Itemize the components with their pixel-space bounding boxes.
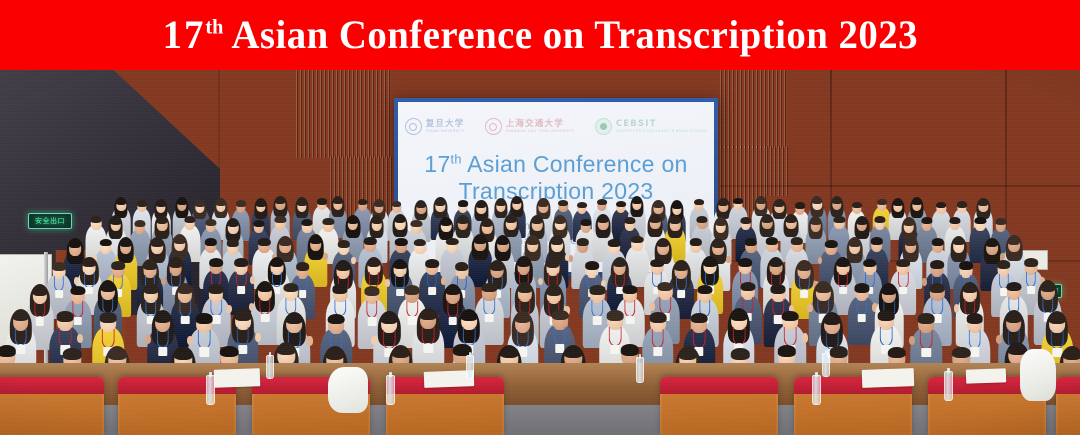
attendee-hair-top (1005, 312, 1022, 323)
slide-title-line1-rest: Asian Conference on (462, 151, 688, 177)
attendee-hair-top (532, 217, 543, 224)
attendee-hair-top (143, 285, 158, 295)
attendee-hair-top (689, 238, 701, 246)
attendee-hair-top (57, 311, 74, 322)
banner-title-rest: Asian Conference on Transcription 2023 (231, 12, 918, 57)
draped-cloth (1020, 349, 1056, 401)
attendee-hair-top (653, 202, 663, 208)
attendee-hair-top (270, 259, 284, 268)
attendee-hair-top (715, 219, 726, 226)
attendee-hair-top (364, 237, 376, 245)
attendee-hair-top (205, 219, 216, 226)
attendee-lanyard (259, 298, 270, 315)
attendee-name-badge (428, 287, 436, 295)
attendee-hair-top (69, 240, 81, 248)
attendee-hair-top (631, 236, 643, 244)
attendee-hair-top (679, 348, 697, 360)
attendee-name-badge (423, 344, 432, 353)
attendee-hair-top (476, 202, 486, 208)
attendee-hair-top (786, 216, 797, 223)
attendee-hair-top (277, 344, 295, 356)
water-bottle (944, 371, 953, 401)
attendee-hair-top (921, 217, 932, 224)
attendee-hair-top (275, 216, 286, 223)
wood-slat-panel (720, 70, 788, 148)
attendee-hair-top (597, 199, 607, 205)
attendee-hair-top (766, 237, 778, 245)
attendee-hair-top (546, 259, 560, 268)
attendee-hair-top (236, 200, 246, 206)
water-bottle (812, 375, 821, 405)
attendee-hair-top (607, 310, 624, 321)
attendee-hair-top (258, 238, 270, 246)
attendee-hair-top (576, 238, 588, 246)
attendee-hair-top (694, 199, 704, 205)
attendee-hair-top (52, 262, 66, 271)
attendee-hair-top (310, 236, 322, 244)
attendee-hair-top (420, 310, 437, 321)
attendee-hair-top (740, 282, 755, 292)
attendee-hair-top (650, 216, 661, 223)
attendee-name-badge (238, 286, 246, 294)
draped-cloth (328, 367, 368, 413)
attendee-hair-top (740, 217, 751, 224)
attendee-hand (323, 253, 328, 260)
attendee-hand (255, 333, 261, 342)
attendee-hair-top (358, 199, 368, 205)
cebsit-logo-cn: CEBSIT (616, 120, 707, 129)
attendee-hair-top (848, 239, 860, 247)
attendee-hair-top (414, 239, 426, 247)
attendee-hair-top (174, 348, 192, 360)
attendee-name-badge (801, 290, 809, 298)
attendee-name-badge (922, 348, 931, 357)
attendee-hair-top (997, 260, 1011, 269)
attendee-hair-top (877, 199, 887, 205)
attendee-hair-top (227, 239, 239, 247)
attendee-hair-top (930, 283, 945, 293)
attendee-hair-top (204, 238, 216, 246)
attendee-lanyard (237, 327, 250, 346)
attendee-hair-top (333, 284, 348, 294)
attendee-hair-top (256, 200, 266, 206)
attendee-hair-top (497, 237, 509, 245)
attendee-hair-top (100, 312, 117, 323)
attendee-hair-top (539, 200, 549, 206)
attendee-name-badge (839, 287, 847, 295)
attendee-hand (909, 336, 915, 345)
attendee-hair-top (816, 283, 831, 293)
attendee-hair-top (108, 348, 126, 360)
attendee-hair-top (517, 284, 532, 294)
attendee-lanyard (733, 327, 746, 346)
attendee-hair-top (832, 198, 842, 204)
attendee-hair-top (286, 314, 303, 325)
attendee-hair-top (253, 220, 264, 227)
attendee-hair-top (333, 198, 343, 204)
attendee-lanyard (59, 328, 72, 347)
attendee-hair-top (675, 262, 689, 271)
attendee-hair-top (834, 216, 845, 223)
attendee-hair-top (195, 201, 205, 207)
attendee-hair-top (381, 313, 398, 324)
attendee-hair-top (143, 261, 157, 270)
attendee-lanyard (484, 298, 495, 315)
attendee-hair-top (391, 347, 409, 359)
attendee-hair-top (234, 310, 251, 321)
attendee-hair-top (691, 313, 708, 324)
attendee-hair-top (893, 200, 903, 206)
attendee-hair-top (154, 312, 171, 323)
attendee-hair-top (371, 217, 382, 224)
auditorium-seat (660, 377, 778, 435)
attendee-hair-top (672, 202, 682, 208)
attendee-hair-top (657, 240, 669, 248)
attendee-hair-top (209, 258, 223, 267)
attendee-hair-top (169, 259, 183, 268)
attendee-lanyard (156, 329, 169, 348)
attendee-hair-top (878, 310, 895, 321)
water-bottle (266, 355, 274, 379)
attendee-hair-top (658, 282, 673, 292)
attendee-hair-top (897, 259, 911, 268)
attendee-hair-top (482, 283, 497, 293)
attendee-hair-top (856, 218, 867, 225)
attendee-hand (802, 333, 808, 342)
attendee-hand (371, 336, 377, 345)
attendee-hair-top (1008, 237, 1020, 245)
attendee-hair-top (863, 259, 877, 268)
attendee-hair-top (903, 219, 914, 226)
cebsit-logo-mark (595, 118, 612, 135)
banner-ordinal: 17 (162, 12, 205, 57)
attendee-hair-top (296, 262, 310, 271)
attendee-hair-top (854, 283, 869, 293)
attendee-hair-top (870, 237, 882, 245)
attendee-hair-top (367, 259, 381, 268)
attendee-hair-top (580, 219, 591, 226)
attendee-lanyard (198, 330, 211, 349)
attendee-hair-top (697, 216, 708, 223)
attendee-hair-top (936, 202, 946, 208)
title-banner: 17th Asian Conference on Transcription 2… (0, 0, 1080, 70)
attendee-hair-top (482, 220, 493, 227)
water-bottle (386, 375, 395, 405)
attendee-hair-top (739, 258, 753, 267)
attendee-lanyard (920, 330, 933, 349)
attendee-hair-top (952, 238, 964, 246)
banner-title-text: 17th Asian Conference on Transcription 2… (162, 15, 917, 55)
attendee-hair-top (137, 200, 147, 206)
attendee-hair-top (551, 237, 563, 245)
attendee-hair-top (326, 348, 344, 360)
fudan-logo-mark (405, 118, 422, 135)
attendee-hair-top (323, 218, 334, 225)
attendee-hair-top (949, 217, 960, 224)
attendee-hair-top (174, 236, 186, 244)
attendee-lanyard (856, 298, 867, 315)
attendee-hair-top (598, 216, 609, 223)
attendee-hair-top (100, 239, 112, 247)
attendee-hair-top (791, 237, 803, 245)
attendee-hair-top (959, 261, 973, 270)
attendee-hair-top (978, 200, 988, 206)
attendee-hair-top (395, 216, 406, 223)
attendee-hair-top (1063, 348, 1080, 360)
attendee-hair-top (395, 238, 407, 246)
fudan-university-logo: 复旦大学 FUDAN UNIVERSITY (405, 118, 465, 135)
attendee-hair-top (337, 240, 349, 248)
attendee-hair-top (798, 262, 812, 271)
attendee-hair-top (1040, 282, 1055, 292)
attendee-hair-top (317, 198, 327, 204)
slide-title-ordinal-suffix: th (451, 152, 462, 166)
attendee-hair-top (514, 313, 531, 324)
attendee-hair-top (551, 310, 568, 321)
attendee-hair-top (558, 200, 568, 206)
auditorium-seat (0, 377, 104, 435)
attendee-hair-top (392, 201, 402, 207)
attendee-hair-top (216, 200, 226, 206)
attendee-hair-top (703, 258, 717, 267)
attendee-hair-top (836, 259, 850, 268)
attendee-hair-top (975, 217, 986, 224)
attendee-hair-top (762, 216, 773, 223)
attendee-hair-top (416, 202, 426, 208)
attendee-hair-top (235, 258, 249, 267)
attendee-hair-top (196, 313, 213, 324)
attendee-hair-top (887, 347, 905, 359)
attendee-hair-top (283, 283, 298, 293)
sjtu-logo-mark (485, 118, 502, 135)
attendee-hair-top (374, 201, 384, 207)
wood-slat-panel (296, 70, 392, 158)
attendee-hair-top (995, 218, 1006, 225)
attendee-hair-top (91, 216, 102, 223)
fudan-logo-cn: 复旦大学 (426, 120, 465, 129)
paper-document (214, 368, 261, 388)
attendee-hair-top (824, 314, 841, 325)
attendee-hand (726, 256, 731, 263)
attendee-hair-top (12, 311, 29, 322)
attendee-hair-top (302, 219, 313, 226)
attendee-hair-top (608, 239, 620, 247)
attendee-hair-top (364, 286, 379, 296)
auditorium-photo: 安全出口 安全出口 复旦大学 FUDAN UNIVERSITY (0, 70, 1080, 435)
attendee-hair-top (458, 200, 468, 206)
attendee-hair-top (411, 220, 422, 227)
attendee-hair-top (0, 345, 16, 357)
attendee-hair-top (209, 284, 224, 294)
fudan-logo-en: FUDAN UNIVERSITY (426, 130, 465, 133)
water-bottle (822, 353, 830, 377)
attendee-hair-top (445, 286, 460, 296)
attendee-hair-top (795, 202, 805, 208)
attendee-hair-top (63, 348, 81, 360)
attendee-hair-top (774, 201, 784, 207)
attendee-hair-top (590, 285, 605, 295)
attendee-hair-top (32, 286, 47, 296)
paper-document (966, 368, 1006, 383)
attendee-hand (77, 334, 83, 343)
attendee-hair-top (731, 348, 749, 360)
attendee-hair-top (650, 312, 667, 323)
attendee-hair-top (632, 198, 642, 204)
water-bottle (206, 375, 215, 405)
slide-logo-row: 复旦大学 FUDAN UNIVERSITY 上海交通大学 SHANGHAI JI… (405, 118, 708, 135)
attendee-hair-top (957, 201, 967, 207)
attendee-hair-top (526, 237, 538, 245)
attendee-hair-top (474, 236, 486, 244)
attendee-hair-top (624, 217, 635, 224)
attendee-hair-top (564, 347, 582, 359)
attendee-hair-top (156, 201, 166, 207)
paper-document (862, 368, 915, 388)
attendee-hair-top (393, 261, 407, 270)
attendee-hair-top (733, 198, 743, 204)
attendee-hair-top (455, 262, 469, 271)
attendee-hair-top (918, 313, 935, 324)
attendee-hair-top (490, 262, 504, 271)
attendee-hair-top (111, 261, 125, 270)
attendee-hair-top (986, 240, 998, 248)
attendee-name-badge (653, 347, 662, 356)
attendee-hand (807, 304, 813, 313)
attendee-hair-top (555, 217, 566, 224)
attendee-hair-top (441, 219, 452, 226)
attendee-hair-top (670, 217, 681, 224)
attendee-hair-top (405, 285, 420, 295)
attendee-hair-top (347, 217, 358, 224)
attendee-lanyard (422, 327, 435, 346)
attendee-hair-top (810, 218, 821, 225)
attendee-hair-top (134, 220, 145, 227)
attendee-hair-top (297, 199, 307, 205)
attendee-hair-top (962, 284, 977, 294)
attendee-hair-top (157, 217, 168, 224)
attendee-hair-top (336, 262, 350, 271)
attendee-hair-top (100, 282, 115, 292)
attendee-hair-top (1024, 258, 1038, 267)
attendee-hair-top (812, 198, 822, 204)
attendee-hair-top (745, 238, 757, 246)
attendee-hair-top (613, 259, 627, 268)
attendee-hair-top (151, 239, 163, 247)
attendee-hair-top (500, 347, 518, 359)
attendee-name-badge (485, 314, 494, 322)
attendee-hair-top (1006, 282, 1021, 292)
attendee-hair-top (506, 216, 517, 223)
attendee-hair-top (446, 238, 458, 246)
attendee-hair-top (228, 220, 239, 227)
water-bottle (636, 357, 644, 383)
attendee-hair-top (852, 202, 862, 208)
attendee-hair-top (258, 283, 273, 293)
attendee-hand (306, 336, 312, 345)
sjtu-logo-en: SHANGHAI JIAO TONG UNIVERSITY (506, 130, 575, 133)
attendee-hair-top (328, 314, 345, 325)
attendee-hair-top (932, 238, 944, 246)
attendee-hair-top (731, 310, 748, 321)
attendee-hair-top (771, 284, 786, 294)
attendee-hair-top (874, 216, 885, 223)
sjtu-logo-cn: 上海交通大学 (506, 120, 575, 129)
attendee-hair-top (621, 344, 639, 356)
attendee-hair-top (712, 240, 724, 248)
attendee-hair-top (719, 200, 729, 206)
attendee-hair-top (435, 199, 445, 205)
attendee-hair-top (585, 261, 599, 270)
attendee-hair-top (825, 240, 837, 248)
attendee-hair-top (778, 345, 796, 357)
cebsit-logo: CEBSIT CENTER FOR EXCELLENCE IN BRAIN SC… (595, 118, 707, 135)
attendee-name-badge (200, 347, 209, 356)
attendee-hair-top (952, 347, 970, 359)
attendee-hair-top (904, 238, 916, 246)
attendee-lanyard (693, 330, 706, 349)
attendee-hair-top (517, 258, 531, 267)
attendee-hair-top (512, 198, 522, 204)
attendee-hair-top (82, 259, 96, 268)
attendee-lanyard (652, 329, 665, 348)
attendee-lanyard (554, 327, 567, 346)
attendee-name-badge (261, 314, 270, 322)
attendee-hair-top (119, 239, 131, 247)
attendee-hair-top (623, 285, 638, 295)
water-bottle (466, 355, 474, 379)
attendee-hair-top (70, 286, 85, 296)
attendee-hair-top (782, 311, 799, 322)
attendee-hair-top (650, 259, 664, 268)
attendee-hair-top (220, 346, 238, 358)
slide-title-ordinal: 17 (424, 151, 450, 177)
attendee-hair-top (279, 238, 291, 246)
attendee-hair-top (116, 199, 126, 205)
attendee-hair-top (461, 311, 478, 322)
attendee-hair-top (184, 216, 195, 223)
attendee-hair-top (882, 285, 897, 295)
attendee-lanyard (102, 329, 115, 348)
attendee-hair-top (177, 199, 187, 205)
attendee-hair-top (930, 260, 944, 269)
attendee-hair-top (830, 346, 848, 358)
attendee-hand (818, 257, 823, 264)
cebsit-logo-en: CENTER FOR EXCELLENCE IN BRAIN SCIENCE (616, 130, 707, 133)
auditorium-seat (1056, 377, 1080, 435)
conference-banner-photo: 17th Asian Conference on Transcription 2… (0, 0, 1080, 435)
attendee-hair-top (457, 217, 468, 224)
attendee-hair-top (756, 198, 766, 204)
banner-ordinal-suffix: th (205, 16, 223, 39)
attendee-hair-top (1049, 313, 1066, 324)
attendee-hand (649, 302, 655, 311)
attendee-hair-top (769, 259, 783, 268)
wood-slat-panel (766, 146, 788, 196)
attendee-hair-top (546, 286, 561, 296)
sjtu-logo: 上海交通大学 SHANGHAI JIAO TONG UNIVERSITY (485, 118, 575, 135)
attendee-hair-top (697, 285, 712, 295)
attendee-hair-top (178, 285, 193, 295)
attendee-hair-top (966, 313, 983, 324)
attendee-hair-top (616, 201, 626, 207)
attendee-hair-top (496, 200, 506, 206)
attendee-hair-top (425, 259, 439, 268)
attendee-name-badge (35, 317, 44, 325)
attendee-lanyard (880, 327, 893, 346)
attendee-hair-top (912, 199, 922, 205)
attendee-hand (187, 336, 193, 345)
attendee-name-badge (55, 290, 63, 298)
